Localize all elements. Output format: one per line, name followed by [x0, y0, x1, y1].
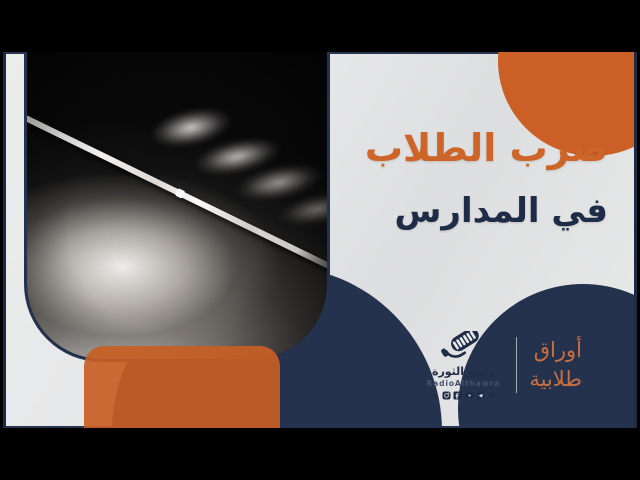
telegram-icon[interactable]	[476, 391, 485, 400]
microphone-icon	[437, 331, 489, 365]
video-frame: ضرب الطلاب في المدارس	[0, 0, 640, 480]
social-links-row	[430, 391, 497, 400]
program-name: أوراق طلابية	[529, 336, 582, 394]
headline-block: ضرب الطلاب في المدارس	[340, 128, 608, 230]
headline-line-2: في المدارس	[340, 193, 608, 230]
soundcloud-icon[interactable]	[430, 391, 439, 400]
program-name-line-2: طلابية	[529, 365, 582, 394]
photo-image	[27, 52, 327, 359]
brand-divider	[516, 337, 517, 393]
facebook-icon[interactable]	[453, 391, 462, 400]
brand-row: راديو الثورة RadioAlthawra	[422, 331, 582, 400]
program-name-line-1: أوراق	[529, 336, 582, 365]
instagram-icon[interactable]	[442, 391, 451, 400]
thumbnail-content-card: ضرب الطلاب في المدارس	[3, 52, 637, 428]
hand-cane-photo	[24, 52, 330, 362]
orange-rounded-rect-decoration	[84, 346, 280, 428]
headline-line-1: ضرب الطلاب	[340, 128, 608, 169]
brand-name-arabic: راديو الثورة	[432, 366, 495, 378]
youtube-icon[interactable]	[465, 391, 474, 400]
twitter-icon[interactable]	[488, 391, 497, 400]
brand-name-english: RadioAlthawra	[426, 379, 500, 388]
radio-althawra-logo: راديو الثورة RadioAlthawra	[422, 331, 504, 400]
